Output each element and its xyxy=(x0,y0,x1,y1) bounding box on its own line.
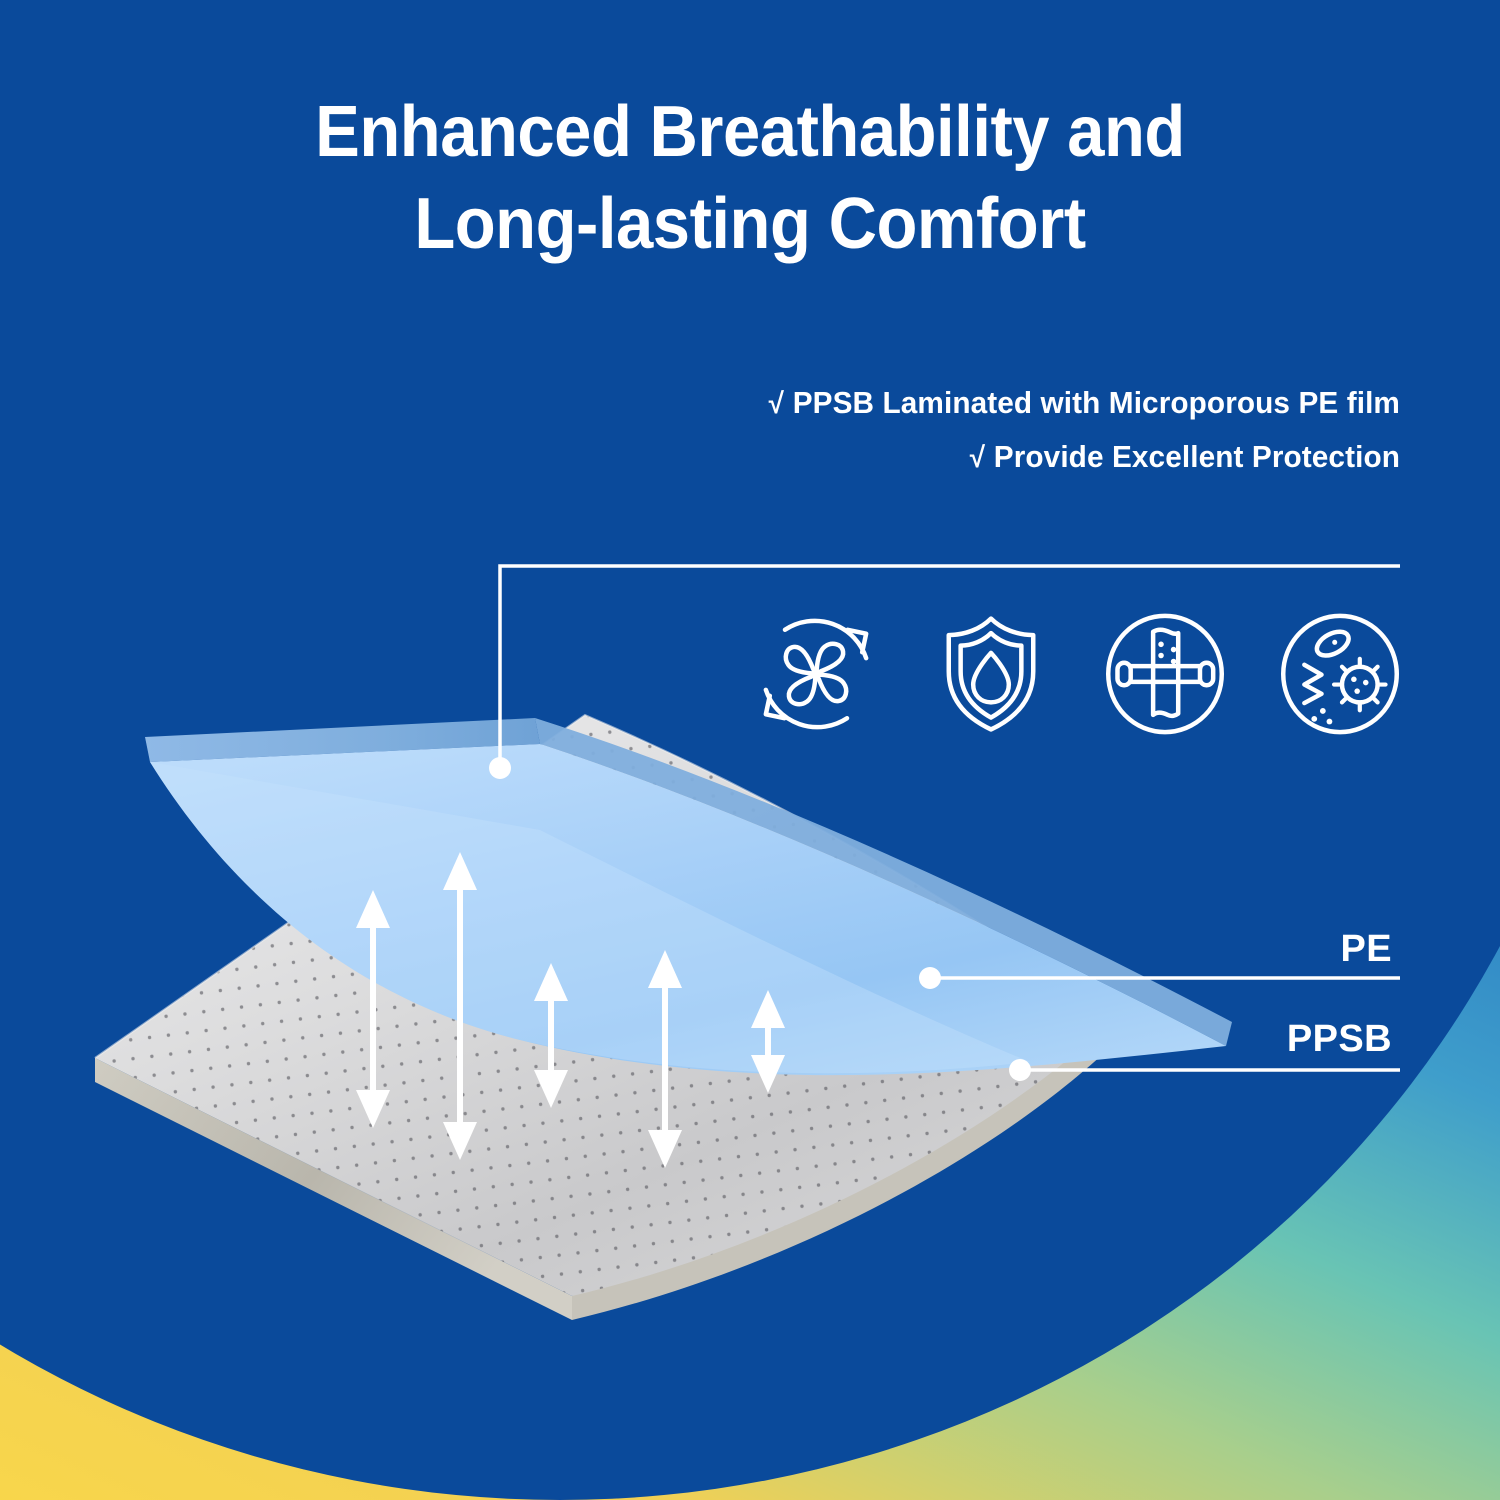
check-icon: √ xyxy=(970,442,985,474)
list-item-label: Provide Excellent Protection xyxy=(994,439,1400,474)
feature-bullet-list: √PPSB Laminated with Microporous PE film… xyxy=(0,376,1500,484)
list-item-label: PPSB Laminated with Microporous PE film xyxy=(793,385,1400,420)
breathability-fan-icon xyxy=(748,608,884,740)
layer-label-ppsb: PPSB xyxy=(1152,1018,1392,1061)
infographic-canvas: Enhanced Breathability and Long-lasting … xyxy=(0,0,1500,1500)
layer-label-pe: PE xyxy=(1152,928,1392,971)
page-title: Enhanced Breathability and Long-lasting … xyxy=(53,86,1448,270)
check-icon: √ xyxy=(769,388,784,420)
feature-icon-row xyxy=(748,608,1408,740)
shield-waterdrop-icon xyxy=(923,608,1059,740)
list-item: √Provide Excellent Protection xyxy=(56,430,1400,484)
antibacterial-germs-icon xyxy=(1272,608,1408,740)
fabric-strength-icon xyxy=(1097,608,1233,740)
list-item: √PPSB Laminated with Microporous PE film xyxy=(56,376,1400,430)
